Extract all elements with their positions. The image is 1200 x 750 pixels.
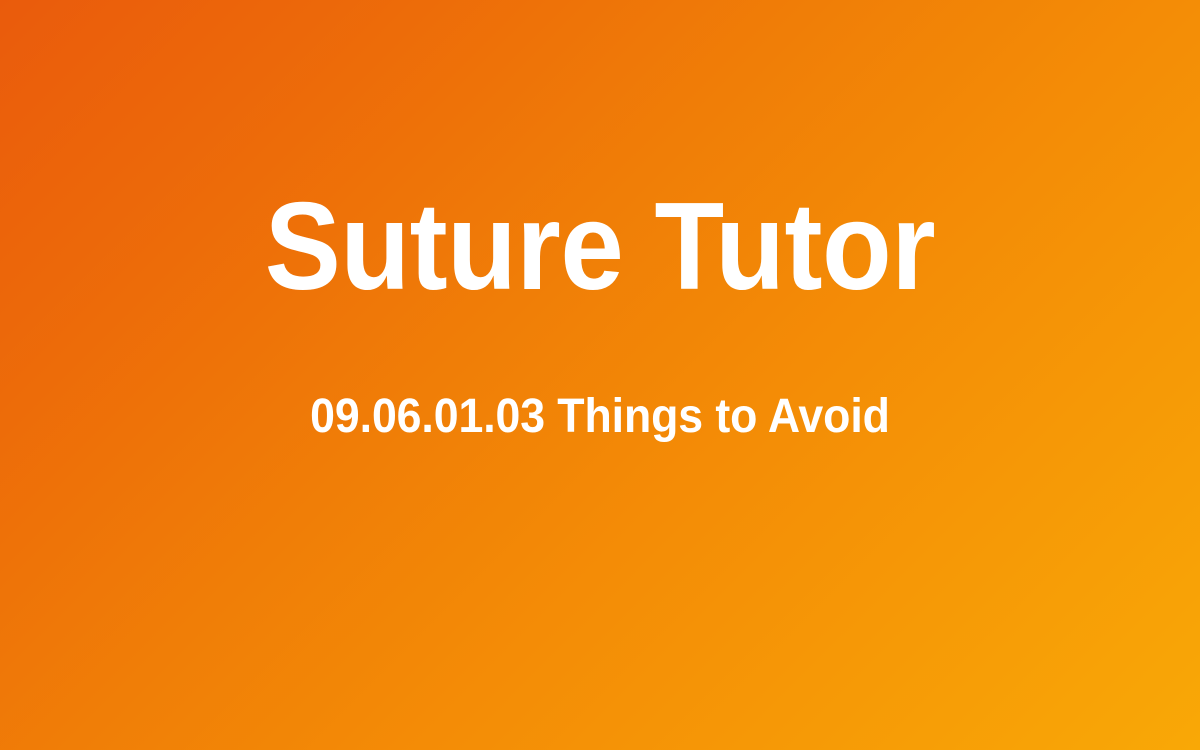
subtitle-container: 09.06.01.03 Things to Avoid: [0, 393, 1200, 441]
page-title: Suture Tutor: [48, 185, 1152, 309]
title-container: Suture Tutor: [0, 185, 1200, 309]
title-slide: Suture Tutor 09.06.01.03 Things to Avoid: [0, 0, 1200, 750]
slide-subtitle: 09.06.01.03 Things to Avoid: [42, 393, 1158, 441]
